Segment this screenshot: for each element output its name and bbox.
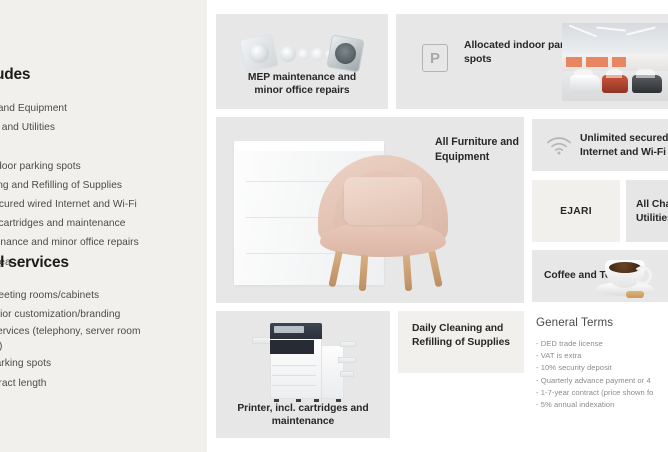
- card-coffee-and-tea[interactable]: Coffee and Tea: [532, 250, 668, 302]
- card-allocated-parking[interactable]: P Allocated indoor parking spots: [396, 14, 668, 109]
- card-wifi-title: Unlimited secured wired Internet and Wi-…: [580, 132, 668, 159]
- general-terms-heading: General Terms: [536, 316, 668, 329]
- general-terms-block: General Terms - DED trade license - VAT …: [536, 316, 668, 411]
- parking-icon-letter: P: [422, 44, 448, 72]
- card-all-charges[interactable]: All Charges and Utilities: [626, 180, 668, 242]
- list-item: - DED trade license: [536, 338, 668, 350]
- card-unlimited-internet[interactable]: Unlimited secured wired Internet and Wi-…: [532, 119, 668, 171]
- wifi-icon: [546, 135, 572, 155]
- parking-icon: P: [422, 44, 448, 72]
- card-mep-maintenance[interactable]: MEP maintenance and minor office repairs: [216, 14, 388, 109]
- card-printer-title: Printer, incl. cartridges and maintenanc…: [216, 402, 390, 429]
- card-furniture-title: All Furniture and Equipment: [435, 135, 519, 164]
- card-charges-title: All Charges and Utilities: [636, 198, 668, 225]
- card-mep-title-line2: minor office repairs: [254, 85, 349, 96]
- list-item: - 10% security deposit: [536, 362, 668, 374]
- list-item: - VAT is extra: [536, 350, 668, 362]
- card-daily-cleaning[interactable]: Daily Cleaning and Refilling of Supplies: [398, 311, 524, 373]
- card-ejari[interactable]: EJARI: [532, 180, 620, 242]
- general-terms-list: - DED trade license - VAT is extra - 10%…: [536, 338, 668, 411]
- list-item: - 5% annual indexation: [536, 399, 668, 411]
- list-item: - 1-7-year contract (price shown fo: [536, 387, 668, 399]
- card-mep-title: MEP maintenance and minor office repairs: [216, 71, 388, 98]
- card-printer[interactable]: Printer, incl. cartridges and maintenanc…: [216, 311, 390, 438]
- list-item: - Quarterly advance payment or 4: [536, 375, 668, 387]
- card-mep-title-line1: MEP maintenance and: [248, 72, 356, 83]
- coffee-cup-photo: [596, 254, 654, 298]
- slide-canvas: e 1 t includes urniture and Equipment Ch…: [0, 0, 668, 452]
- card-cleaning-title: Daily Cleaning and Refilling of Supplies: [412, 322, 516, 350]
- armchair-photo: [308, 155, 458, 290]
- feature-card-grid: MEP maintenance and minor office repairs…: [0, 0, 668, 452]
- printer-photo: [252, 323, 356, 399]
- card-ejari-title: EJARI: [532, 205, 620, 219]
- parking-garage-photo: [562, 23, 668, 101]
- card-all-furniture[interactable]: All Furniture and Equipment: [216, 117, 524, 303]
